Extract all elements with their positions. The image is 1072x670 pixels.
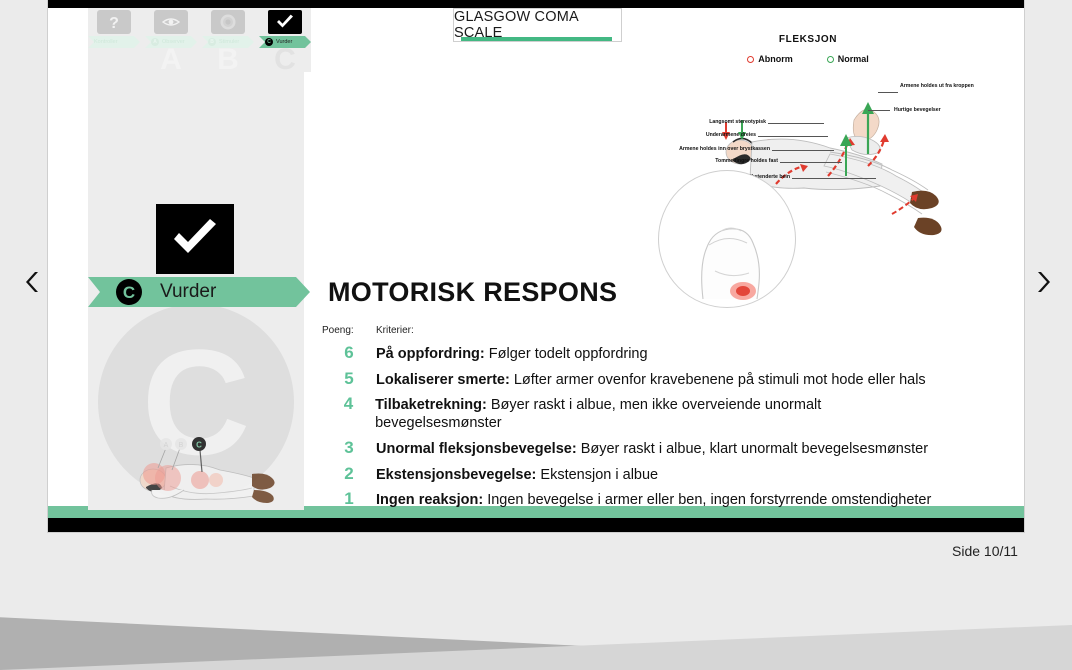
step-badge-observer: A [151, 38, 159, 46]
criteria-desc: Følger todelt oppfordring [489, 346, 648, 362]
leader-line [792, 178, 876, 179]
svg-text:A: A [164, 442, 169, 449]
head-detail-inset [658, 170, 796, 308]
section-banner: C Vurder [88, 277, 310, 307]
table-row: 6 På oppfordring: Følger todelt oppfordr… [322, 343, 942, 363]
annotation-label: Underarmene dreies [640, 132, 756, 138]
step-label-kontroller: Kontroller [94, 39, 118, 45]
chevron-right-icon [1035, 270, 1051, 294]
criteria-score: 6 [322, 343, 376, 363]
criteria-term: Tilbaketrekning: [375, 397, 487, 413]
criteria-term: Lokaliserer smerte: [376, 372, 510, 388]
criteria-score: 4 [322, 394, 375, 414]
leader-line [780, 162, 842, 163]
step-badge-vurder: C [265, 38, 273, 46]
annotation-label: Tommelfingre holdes fast [640, 158, 778, 164]
leader-line [758, 136, 828, 137]
checkmark-icon [168, 217, 222, 261]
page-heading: MOTORISK RESPONS [328, 277, 617, 308]
annotation-label: Hurtige bevegelser [894, 107, 941, 113]
criteria-term: På oppfordring: [376, 346, 485, 362]
criteria-desc: Bøyer raskt i albue, klart unormalt beve… [581, 441, 928, 457]
criteria-text: Unormal fleksjonsbevegelse: Bøyer raskt … [376, 440, 928, 458]
step-ghost-letter-vurder: C [259, 48, 311, 72]
legend-item-abnorm: Abnorm [747, 54, 793, 64]
illustration-legend: Abnorm Normal [640, 54, 976, 64]
step-badge-stimuler: B [208, 38, 216, 46]
sidebar-item-stimuler[interactable]: B Stimuler B [202, 8, 254, 72]
table-row: 4 Tilbaketrekning: Bøyer raskt i albue, … [322, 394, 942, 432]
section-badge: C [116, 279, 142, 305]
annotation-label: Armene holdes ut fra kroppen [900, 83, 976, 90]
title-underline [461, 37, 612, 41]
criteria-score: 3 [322, 438, 376, 458]
next-slide-arrow[interactable] [1026, 262, 1060, 302]
criteria-table: Poeng: Kriterier: 6 På oppfordring: Følg… [322, 325, 942, 515]
criteria-text: Lokaliserer smerte: Løfter armer ovenfor… [376, 371, 926, 389]
criteria-text: Ingen reaksjon: Ingen bevegelse i armer … [376, 491, 931, 509]
previous-slide-arrow[interactable] [16, 262, 50, 302]
criteria-term: Ekstensjonsbevegelse: [376, 467, 536, 483]
leader-line [878, 92, 898, 93]
head-illustration [659, 171, 795, 307]
legend-item-normal: Normal [827, 54, 869, 64]
sidebar-item-observer[interactable]: A Observer A [145, 8, 197, 72]
section-check-icon-large [156, 204, 234, 274]
annotation-label: Langsomt stereotypisk [640, 119, 766, 125]
slide-bottom-bar [48, 518, 1024, 532]
leader-line [868, 110, 890, 111]
page-indicator: Side 10/11 [952, 543, 1018, 559]
patient-figure-small: A B C [88, 308, 304, 508]
sidebar-item-vurder[interactable]: C Vurder C [259, 8, 311, 72]
leader-line [768, 123, 824, 124]
criteria-score: 1 [322, 489, 376, 509]
eye-icon [154, 10, 188, 34]
step-ghost-letter-kontroller [88, 48, 140, 72]
svg-text:C: C [196, 441, 202, 450]
slide-top-bar [48, 0, 1024, 8]
leader-line [772, 150, 834, 151]
table-row: 5 Lokaliserer smerte: Løfter armer ovenf… [322, 369, 942, 389]
svg-text:?: ? [109, 15, 119, 31]
table-row: 3 Unormal fleksjonsbevegelse: Bøyer rask… [322, 438, 942, 458]
question-mark-icon: ? [97, 10, 131, 34]
ripple-circle-icon [211, 10, 245, 34]
left-sidebar-panel: C A B C [88, 8, 304, 510]
table-row: 2 Ekstensjonsbevegelse: Ekstensjon i alb… [322, 464, 942, 484]
criteria-header-criteria: Kriterier: [376, 325, 414, 336]
legend-marker-normal [827, 56, 834, 63]
criteria-score: 2 [322, 464, 376, 484]
criteria-score: 5 [322, 369, 376, 389]
criteria-desc: Ingen bevegelse i armer eller ben, ingen… [487, 492, 931, 508]
legend-label-normal: Normal [838, 54, 869, 64]
criteria-text: Tilbaketrekning: Bøyer raskt i albue, me… [375, 396, 942, 432]
criteria-term: Unormal fleksjonsbevegelse: [376, 441, 577, 457]
criteria-desc: Løfter armer ovenfor kravebenene på stim… [514, 372, 926, 388]
criteria-text: Ekstensjonsbevegelse: Ekstensjon i albue [376, 466, 658, 484]
checkmark-icon [268, 10, 302, 34]
sidebar-item-kontroller[interactable]: ? Kontroller [88, 8, 140, 72]
table-row: 1 Ingen reaksjon: Ingen bevegelse i arme… [322, 489, 942, 509]
step-navigation-strip: ? Kontroller A Observer A B [88, 8, 312, 72]
criteria-header-score: Poeng: [322, 325, 376, 336]
step-chevron-kontroller: Kontroller [88, 36, 140, 48]
criteria-header-row: Poeng: Kriterier: [322, 325, 942, 336]
step-ghost-letter-observer: A [145, 48, 197, 72]
section-label: Vurder [160, 281, 216, 303]
illustration-title: FLEKSJON [640, 34, 976, 45]
criteria-term: Ingen reaksjon: [376, 492, 483, 508]
legend-label-abnorm: Abnorm [758, 54, 793, 64]
svg-text:B: B [179, 442, 184, 449]
annotation-label: Armene holdes inn over brystkassen [640, 146, 770, 152]
criteria-text: På oppfordring: Følger todelt oppfordrin… [376, 345, 648, 363]
criteria-desc: Ekstensjon i albue [540, 467, 658, 483]
chevron-left-icon [25, 270, 41, 294]
step-ghost-letter-stimuler: B [202, 48, 254, 72]
legend-marker-abnorm [747, 56, 754, 63]
